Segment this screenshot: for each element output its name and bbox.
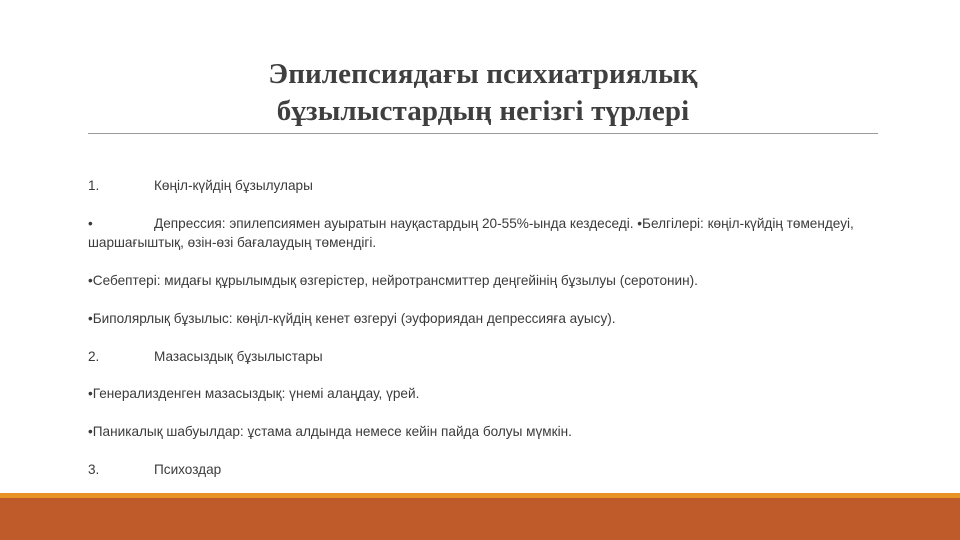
bullet-item: •Депрессия: эпилепсиямен ауыратын науқас…	[88, 214, 880, 271]
numbered-item: 2.Мазасыздық бұзылыстары	[88, 347, 880, 385]
list-item-text: Мазасыздық бұзылыстары	[154, 349, 323, 364]
list-item-text: Биполярлық бұзылыс: көңіл-күйдің кенет ө…	[93, 311, 616, 326]
bullet-item: •Генерализденген мазасыздық: үнемі алаңд…	[88, 384, 880, 422]
bullet-item: •Себептері: мидағы құрылымдық өзгерістер…	[88, 271, 880, 309]
body-content: 1.Көңіл-күйдің бұзылулары•Депрессия: эпи…	[88, 176, 880, 479]
list-item-text: Генерализденген мазасыздық: үнемі алаңда…	[93, 386, 420, 401]
list-item-text: Себептері: мидағы құрылымдық өзгерістер,…	[93, 273, 698, 288]
numbered-item: 1.Көңіл-күйдің бұзылулары	[88, 176, 880, 214]
list-number: 3.	[88, 460, 154, 480]
bullet-item: •Паникалық шабуылдар: ұстама алдында нем…	[88, 422, 880, 460]
list-item-text: Депрессия: эпилепсиямен ауыратын науқаст…	[88, 216, 854, 251]
title-divider	[88, 133, 878, 134]
bullet-marker: •	[88, 214, 154, 234]
list-item-text: Паникалық шабуылдар: ұстама алдында неме…	[93, 424, 572, 439]
title-area: Эпилепсиядағы психиатриялық бұзылыстарды…	[88, 56, 878, 130]
bullet-item: •Биполярлық бұзылыс: көңіл-күйдің кенет …	[88, 309, 880, 347]
list-item-text: Психоздар	[154, 462, 221, 477]
list-number: 2.	[88, 347, 154, 367]
page-title: Эпилепсиядағы психиатриялық бұзылыстарды…	[88, 56, 878, 130]
list-number: 1.	[88, 176, 154, 196]
accent-bar-thick	[0, 498, 960, 540]
list-item-text: Көңіл-күйдің бұзылулары	[154, 178, 313, 193]
slide-canvas: Эпилепсиядағы психиатриялық бұзылыстарды…	[0, 0, 960, 540]
numbered-item: 3.Психоздар	[88, 460, 880, 480]
